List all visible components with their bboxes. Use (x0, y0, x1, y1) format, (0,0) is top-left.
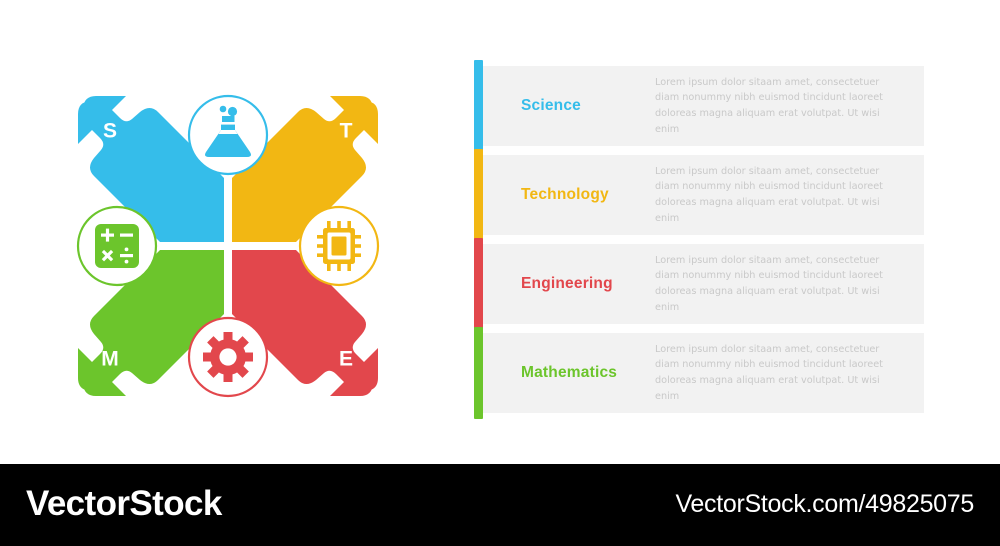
panel-description: Lorem ipsum dolor sitaam amet, consectet… (655, 342, 924, 405)
vectorstock-url: VectorStock.com/49825075 (675, 490, 974, 519)
panel-science[interactable]: Science Lorem ipsum dolor sitaam amet, c… (474, 66, 924, 146)
panel-mathematics[interactable]: Mathematics Lorem ipsum dolor sitaam ame… (474, 333, 924, 413)
flask-icon-badge[interactable] (189, 96, 267, 174)
stem-arrow-diagram: S T (60, 78, 396, 414)
panel-title: Technology (483, 186, 655, 204)
panel-technology[interactable]: Technology Lorem ipsum dolor sitaam amet… (474, 155, 924, 235)
panel-accent-bar (474, 149, 483, 241)
microchip-icon-badge[interactable] (300, 207, 378, 285)
infographic-canvas: S T (0, 0, 1000, 546)
panel-body: Mathematics Lorem ipsum dolor sitaam ame… (483, 333, 924, 413)
gear-icon (203, 332, 253, 382)
calculator-icon-badge[interactable] (78, 207, 156, 285)
arrow-letter-m: M (101, 348, 119, 371)
arrow-letter-e: E (339, 348, 353, 371)
panel-title: Mathematics (483, 364, 655, 382)
panel-body: Engineering Lorem ipsum dolor sitaam ame… (483, 244, 924, 324)
panel-description: Lorem ipsum dolor sitaam amet, consectet… (655, 253, 924, 316)
panel-title: Engineering (483, 275, 655, 293)
panel-accent-bar (474, 327, 483, 419)
gear-icon-badge[interactable] (189, 318, 267, 396)
panel-body: Technology Lorem ipsum dolor sitaam amet… (483, 155, 924, 235)
panel-title: Science (483, 97, 655, 115)
description-panel-list: Science Lorem ipsum dolor sitaam amet, c… (474, 66, 924, 424)
arrow-letter-s: S (103, 120, 117, 143)
vectorstock-logo: VectorStock (26, 484, 222, 524)
watermark-bar: VectorStock VectorStock.com/49825075 (0, 464, 1000, 546)
arrow-letter-t: T (340, 120, 353, 143)
panel-accent-bar (474, 60, 483, 152)
panel-description: Lorem ipsum dolor sitaam amet, consectet… (655, 164, 924, 227)
panel-accent-bar (474, 238, 483, 330)
panel-description: Lorem ipsum dolor sitaam amet, consectet… (655, 75, 924, 138)
panel-engineering[interactable]: Engineering Lorem ipsum dolor sitaam ame… (474, 244, 924, 324)
calculator-icon (95, 224, 139, 268)
panel-body: Science Lorem ipsum dolor sitaam amet, c… (483, 66, 924, 146)
